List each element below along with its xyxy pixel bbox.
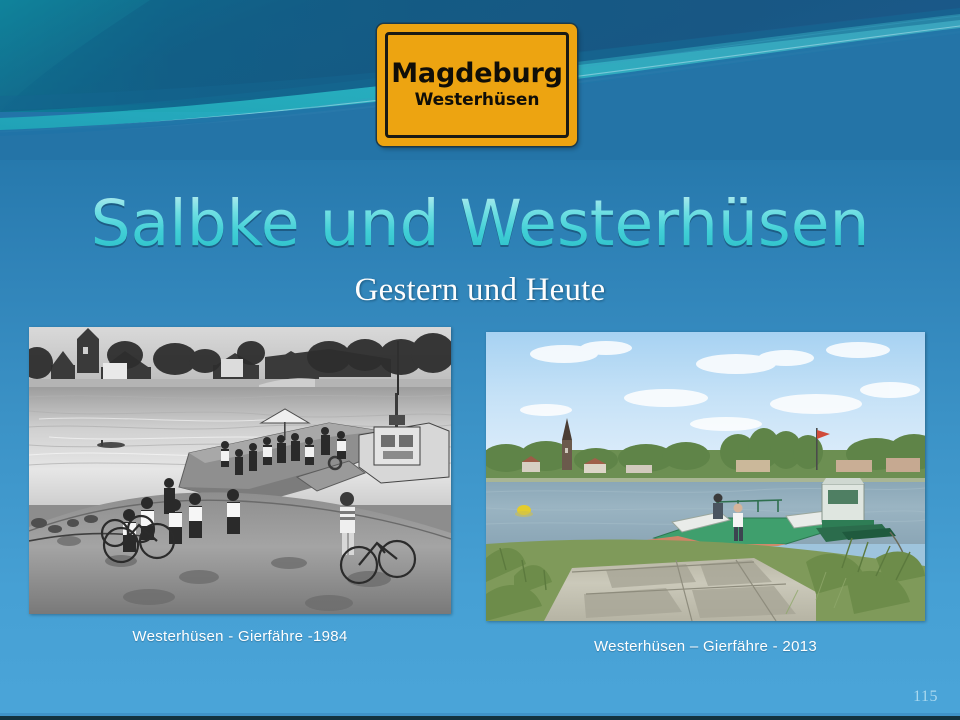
slide-page-number: 115 [913,688,938,706]
bottom-dark-line [0,716,960,720]
caption-modern-ferry: Westerhüsen – Gierfähre - 2013 [486,638,925,655]
slide-subtitle: Gestern und Heute [0,272,960,309]
slide-title: Salbke und Westerhüsen [0,192,960,255]
photo-modern-ferry [486,332,925,621]
photo-historic-ferry [29,327,451,614]
caption-historic-ferry: Westerhüsen - Gierfähre -1984 [29,628,451,645]
presentation-slide: Magdeburg Westerhüsen Salbke und Westerh… [0,0,960,720]
town-sign-subname: Westerhüsen [415,91,540,110]
town-sign-inner-frame: Magdeburg Westerhüsen [385,32,569,138]
town-entry-sign: Magdeburg Westerhüsen [377,24,577,146]
town-sign-name: Magdeburg [391,60,562,88]
